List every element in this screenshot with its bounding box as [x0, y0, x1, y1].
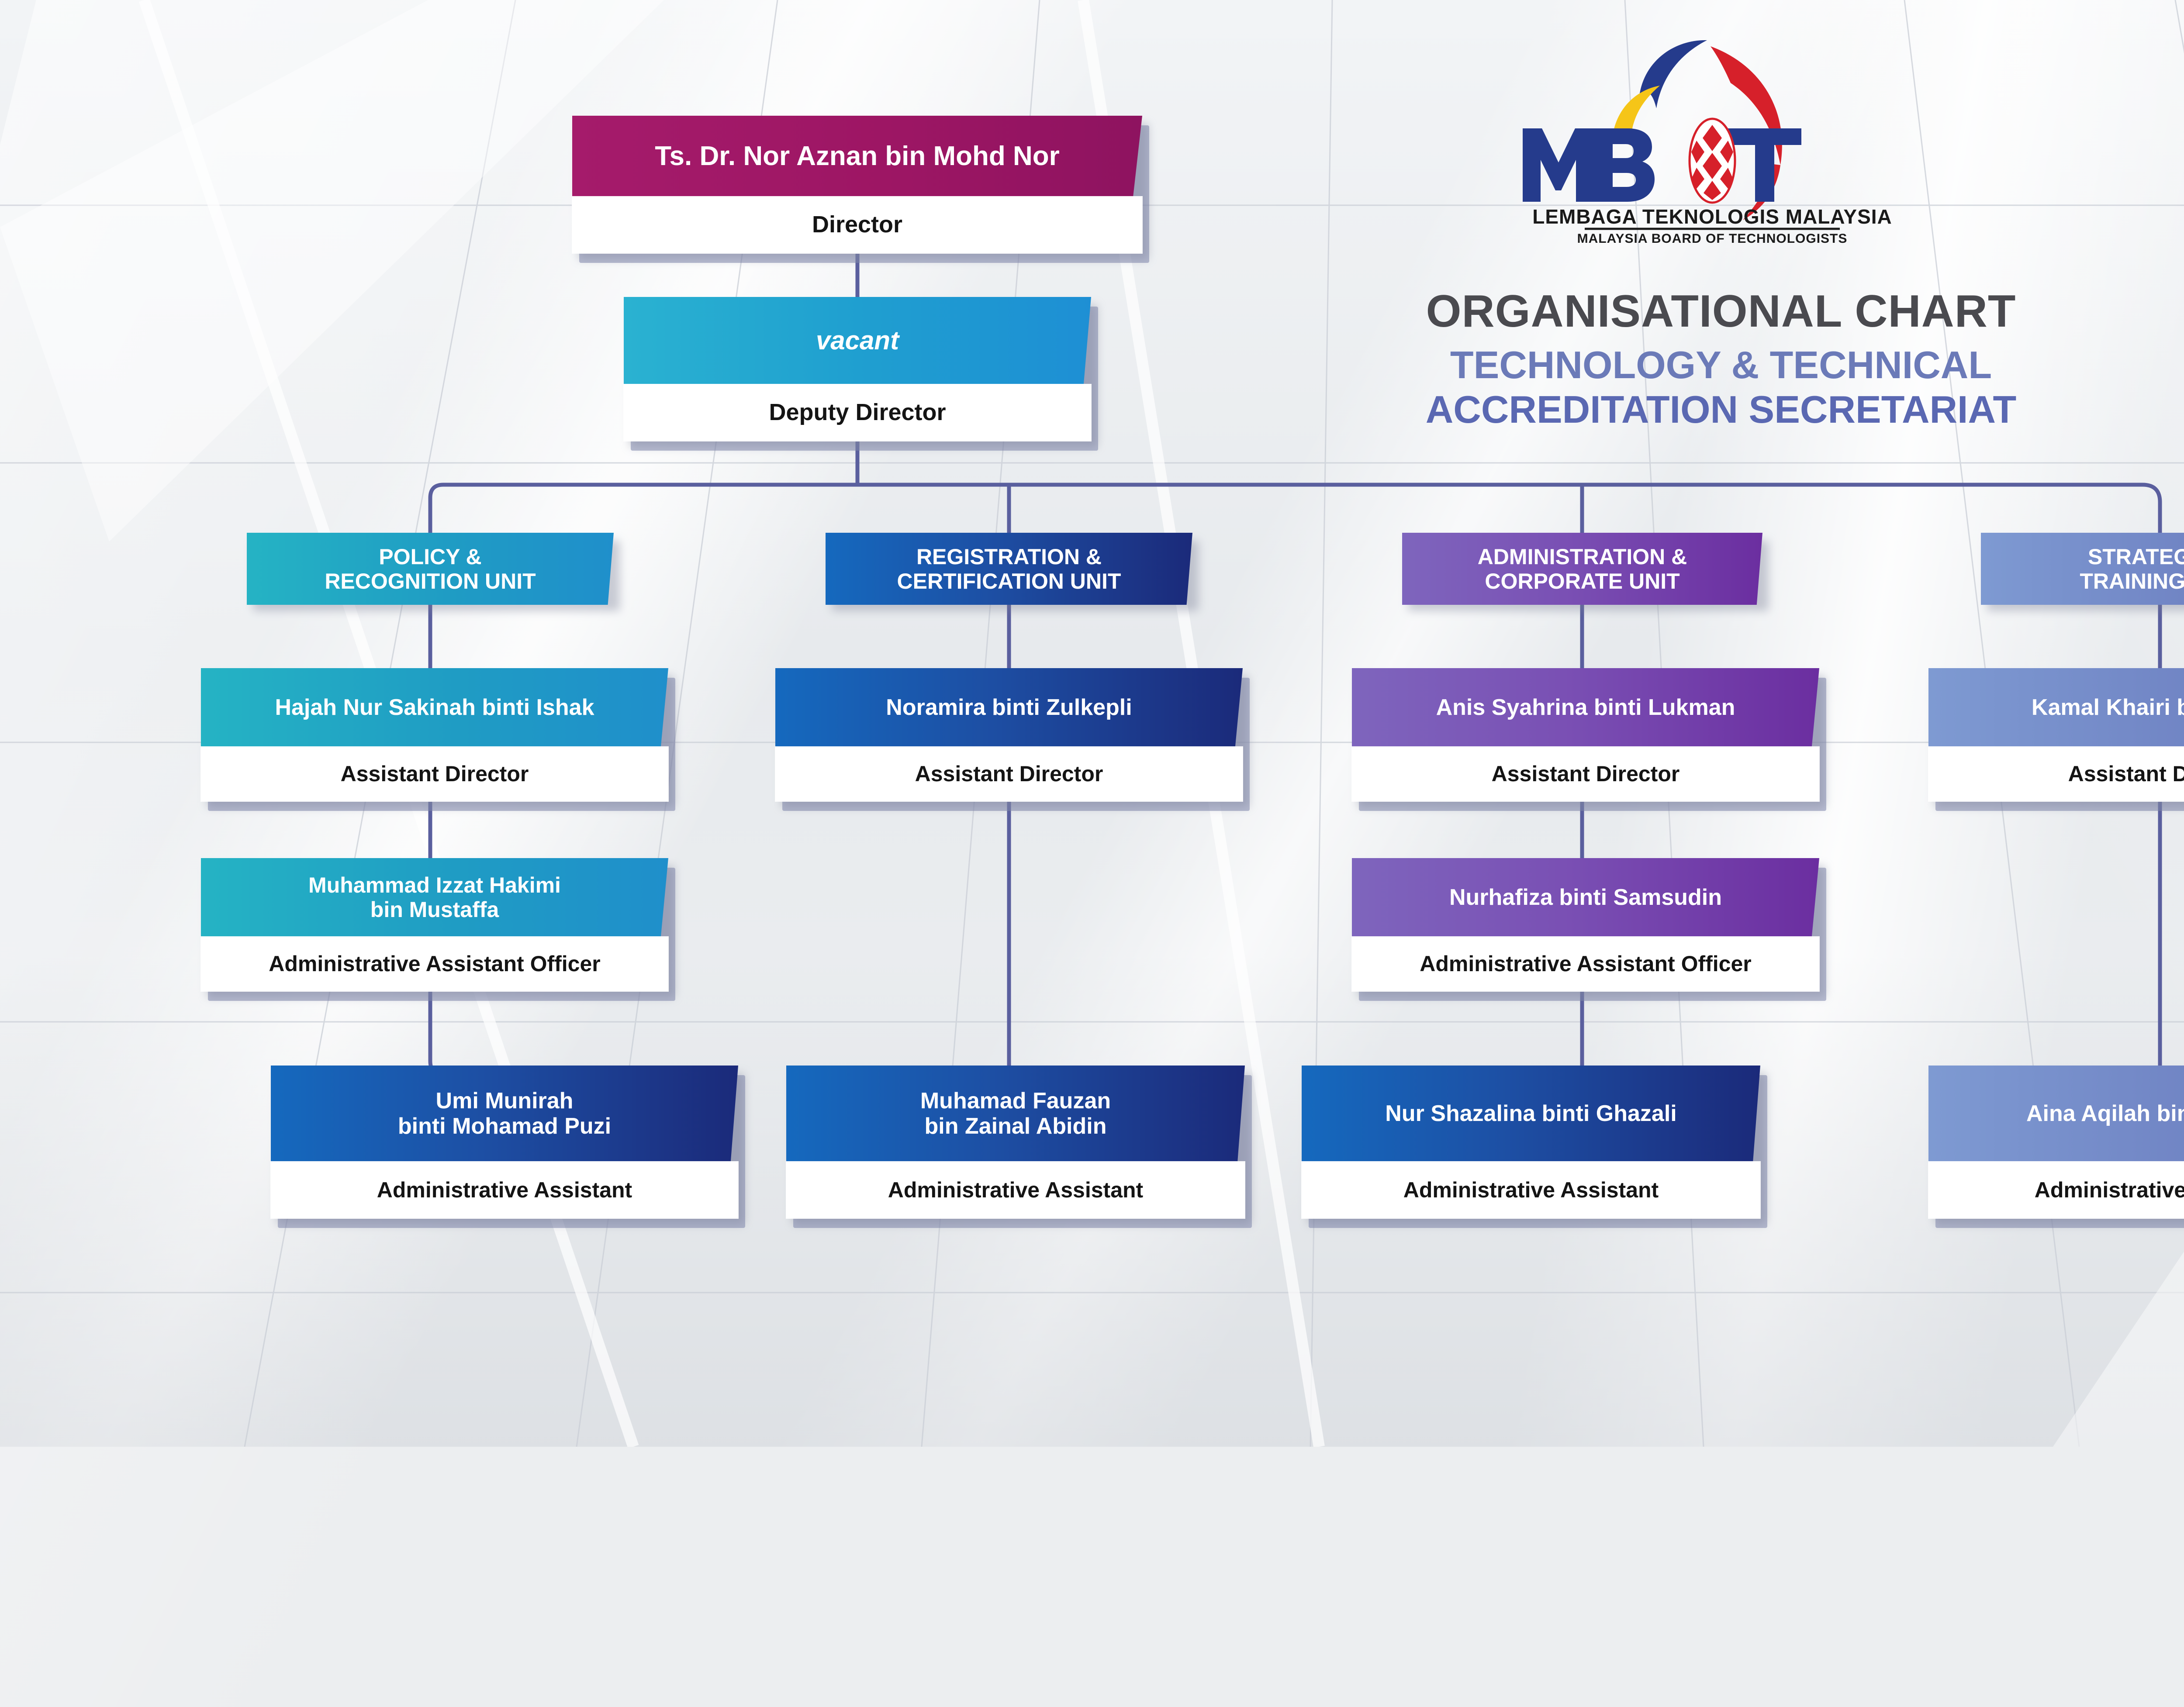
logo-line1: LEMBAGA TEKNOLOGIS MALAYSIA [1532, 205, 1892, 228]
node-name-line1: Umi Munirah [436, 1088, 574, 1114]
node-name: Noramira binti Zulkepli [775, 668, 1243, 747]
page-subtitle-line2: ACCREDITATION SECRETARIAT [1232, 390, 2184, 430]
link-unit-bus [430, 485, 2160, 555]
page-title: ORGANISATIONAL CHART [1232, 288, 2184, 335]
unit-label: ADMINISTRATION & CORPORATE UNIT [1402, 533, 1762, 605]
node-title: Administrative Assistant Officer [201, 937, 668, 991]
node-name: Anis Syahrina binti Lukman [1352, 668, 1819, 747]
node-title: Administrative Assistant [271, 1162, 738, 1218]
unit-label: REGISTRATION & CERTIFICATION UNIT [826, 533, 1192, 605]
page-subtitle-line1: TECHNOLOGY & TECHNICAL [1232, 345, 2184, 385]
node-admin-assistant-officer-administration[interactable]: Nurhafiza binti Samsudin Administrative … [1352, 858, 1819, 991]
node-assistant-director-policy[interactable]: Hajah Nur Sakinah binti Ishak Assistant … [201, 668, 668, 801]
node-name: Muhammad Izzat Hakimi bin Mustaffa [201, 858, 668, 937]
unit-label-line1: ADMINISTRATION & [1478, 545, 1687, 569]
node-name: Muhamad Fauzan bin Zainal Abidin [786, 1066, 1245, 1162]
node-title: Assistant Director [775, 747, 1243, 801]
node-name: Aina Aqilah binti Lukman [1928, 1066, 2184, 1162]
node-name-line2: binti Mohamad Puzi [398, 1114, 611, 1139]
node-title: Assistant Director [1928, 747, 2184, 801]
node-admin-assistant-shazalina[interactable]: Nur Shazalina binti Ghazali Administrati… [1302, 1066, 1760, 1218]
node-name-line1: Muhamad Fauzan [920, 1088, 1111, 1114]
unit-label-line1: REGISTRATION & [916, 545, 1102, 569]
unit-label-line2: CORPORATE UNIT [1485, 569, 1679, 593]
link-aao-policy-down [430, 991, 498, 1076]
node-name: Kamal Khairi bin Mazlan [1928, 668, 2184, 747]
node-name-line2: bin Zainal Abidin [925, 1114, 1107, 1139]
node-assistant-director-administration[interactable]: Anis Syahrina binti Lukman Assistant Dir… [1352, 668, 1819, 801]
node-admin-assistant-aina[interactable]: Aina Aqilah binti Lukman Administrative … [1928, 1066, 2184, 1218]
node-admin-assistant-umi[interactable]: Umi Munirah binti Mohamad Puzi Administr… [271, 1066, 738, 1218]
node-name: Nurhafiza binti Samsudin [1352, 858, 1819, 937]
unit-label-line2: RECOGNITION UNIT [325, 569, 536, 593]
unit-policy-recognition[interactable]: POLICY & RECOGNITION UNIT [247, 533, 614, 605]
node-assistant-director-registration[interactable]: Noramira binti Zulkepli Assistant Direct… [775, 668, 1243, 801]
unit-administration-corporate[interactable]: ADMINISTRATION & CORPORATE UNIT [1402, 533, 1762, 605]
unit-label: POLICY & RECOGNITION UNIT [247, 533, 614, 605]
unit-label-line1: POLICY & [379, 545, 481, 569]
node-title: Assistant Director [1352, 747, 1819, 801]
logo-line2: MALAYSIA BOARD OF TECHNOLOGISTS [1577, 231, 1848, 245]
node-title: Director [572, 197, 1142, 253]
node-name: Nur Shazalina binti Ghazali [1302, 1066, 1760, 1162]
node-name: Ts. Dr. Nor Aznan bin Mohd Nor [572, 116, 1142, 197]
unit-label-line2: TRAINING UNIT [2080, 569, 2184, 593]
node-title: Administrative Assistant [786, 1162, 1245, 1218]
node-name: Hajah Nur Sakinah binti Ishak [201, 668, 668, 747]
node-director[interactable]: Ts. Dr. Nor Aznan bin Mohd Nor Director [572, 116, 1142, 253]
node-admin-assistant-officer-policy[interactable]: Muhammad Izzat Hakimi bin Mustaffa Admin… [201, 858, 668, 991]
node-title: Deputy Director [624, 384, 1091, 441]
unit-label-line2: CERTIFICATION UNIT [897, 569, 1121, 593]
node-name-line1: Muhammad Izzat Hakimi [308, 873, 561, 897]
node-deputy-director[interactable]: vacant Deputy Director [624, 297, 1091, 441]
node-name-line2: bin Mustaffa [370, 897, 499, 922]
unit-label-line1: STRATEGIC & [2088, 545, 2184, 569]
unit-strategic-training[interactable]: STRATEGIC & TRAINING UNIT [1981, 533, 2184, 605]
node-title: Administrative Assistant Officer [1352, 937, 1819, 991]
unit-label: STRATEGIC & TRAINING UNIT [1981, 533, 2184, 605]
node-assistant-director-strategic[interactable]: Kamal Khairi bin Mazlan Assistant Direct… [1928, 668, 2184, 801]
unit-registration-certification[interactable]: REGISTRATION & CERTIFICATION UNIT [826, 533, 1192, 605]
mbot-logo: LEMBAGA TEKNOLOGIS MALAYSIA MALAYSIA BOA… [1468, 35, 1957, 245]
node-admin-assistant-fauzan[interactable]: Muhamad Fauzan bin Zainal Abidin Adminis… [786, 1066, 1245, 1218]
mbot-logo-graphic: LEMBAGA TEKNOLOGIS MALAYSIA MALAYSIA BOA… [1468, 35, 1957, 245]
node-title: Administrative Assistant [1928, 1162, 2184, 1218]
node-title: Administrative Assistant [1302, 1162, 1760, 1218]
node-name-vacant: vacant [624, 297, 1091, 384]
node-title: Assistant Director [201, 747, 668, 801]
node-name: Umi Munirah binti Mohamad Puzi [271, 1066, 738, 1162]
